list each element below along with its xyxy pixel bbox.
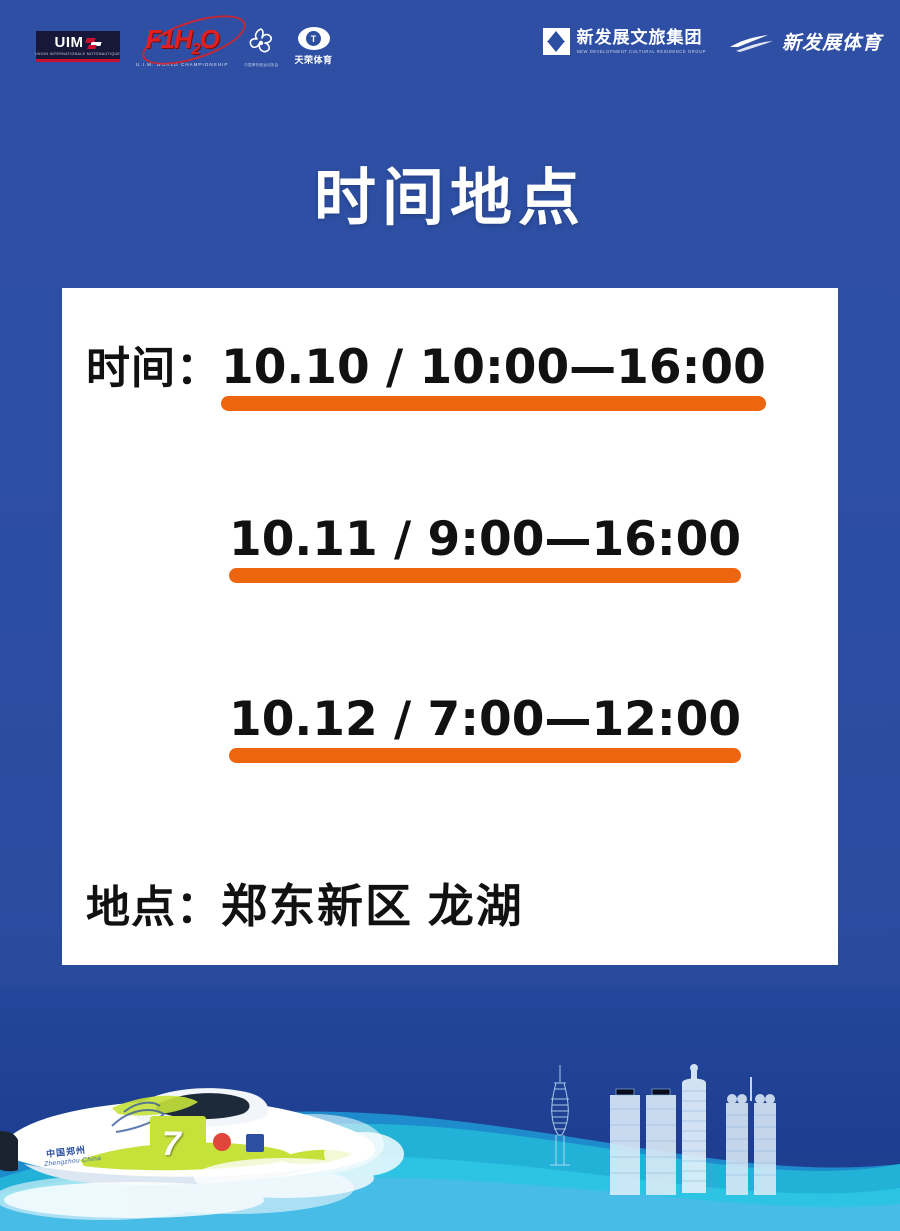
new-development-group-subtitle: NEW DEVELOPMENT CULTURAL RESIDENCE GROUP [577,49,706,54]
schedule-underline-3 [229,748,741,763]
new-development-sports-mark-icon [728,30,774,54]
f1h2o-logo: F1H2O U.I.M. WORLD CHAMPIONSHIP [136,26,228,66]
new-development-sports-logo: 新发展体育 [728,28,882,55]
new-development-group-mark-icon [543,28,570,55]
sponsor-logo-bar: UIM UNION INTERNATIONALE MOTONAUTIQUE F1… [0,0,900,100]
boat-hull-number: 7 [162,1125,181,1164]
schedule-value-wrap-3: 10.12 / 7:00—12:00 [229,692,741,747]
tianrong-sports-logo: T 天荣体育 [295,27,333,66]
schedule-underline-1 [221,396,766,411]
uim-logo-word: UIM [55,35,84,50]
info-card: 时间： 10.10 / 10:00—16:00 10.11 / 9:00—16:… [62,288,838,965]
tianrong-mark-letter: T [311,34,317,44]
schedule-value-wrap-1: 10.10 / 10:00—16:00 [221,340,766,395]
time-label: 时间： [86,332,221,396]
new-development-group-text: 新发展文旅集团 NEW DEVELOPMENT CULTURAL RESIDEN… [577,29,706,54]
tianrong-mark-icon: T [298,27,330,50]
tianrong-sports-label: 天荣体育 [295,53,333,66]
new-development-sports-label: 新发展体育 [782,28,882,55]
f1h2o-logo-wordmark: F1H2O [146,26,219,58]
location-value: 郑东新区 龙湖 [221,870,524,936]
china-motorboat-federation-subtitle: 中国摩托艇运动协会 [244,62,278,67]
poster-root: UIM UNION INTERNATIONALE MOTONAUTIQUE F1… [0,0,900,1231]
uim-flag-icon [86,37,102,49]
schedule-row-3: 10.12 / 7:00—12:00 [229,692,741,747]
schedule-value-1: 10.10 / 10:00—16:00 [221,340,766,395]
zhengzhou-skyline [520,1055,850,1205]
new-development-group-label: 新发展文旅集团 [577,29,706,47]
schedule-row-1: 时间： 10.10 / 10:00—16:00 [86,332,766,396]
uim-logo-subtitle: UNION INTERNATIONALE MOTONAUTIQUE [35,52,120,56]
sponsor-logos-right: 新发展文旅集团 NEW DEVELOPMENT CULTURAL RESIDEN… [543,28,882,55]
f1h2o-powerboat: 7 中国郑州 Zhengzhou China [0,1048,404,1223]
sponsor-logos-left: UIM UNION INTERNATIONALE MOTONAUTIQUE F1… [36,26,333,67]
motorboat-emblem-icon [244,26,278,60]
schedule-row-2: 10.11 / 9:00—16:00 [229,512,741,567]
location-row: 地点： 郑东新区 龙湖 [86,870,524,936]
schedule-value-2: 10.11 / 9:00—16:00 [229,512,741,567]
schedule-value-3: 10.12 / 7:00—12:00 [229,692,741,747]
uim-logo: UIM UNION INTERNATIONALE MOTONAUTIQUE [36,31,120,62]
schedule-underline-2 [229,568,741,583]
china-motorboat-federation-logo: 中国摩托艇运动协会 [244,26,278,67]
uim-logo-top: UIM [55,35,102,50]
new-development-cultural-tourism-group-logo: 新发展文旅集团 NEW DEVELOPMENT CULTURAL RESIDEN… [543,28,706,55]
page-title: 时间地点 [0,168,900,230]
schedule-value-wrap-2: 10.11 / 9:00—16:00 [229,512,741,567]
location-label: 地点： [86,871,221,935]
